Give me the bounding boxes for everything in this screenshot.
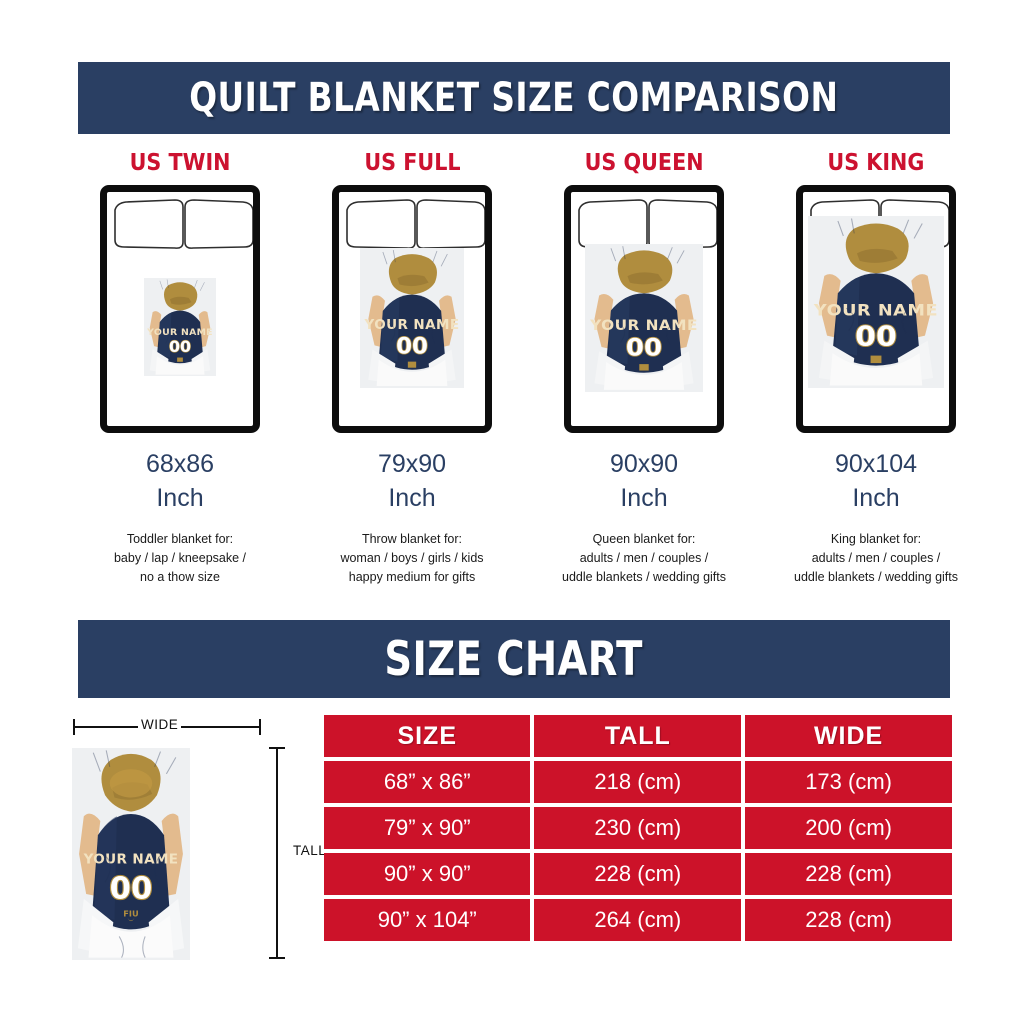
bed-frame-full: YOUR NAME 00	[332, 185, 492, 433]
size-column-twin: US TWIN YOUR NAME	[64, 150, 296, 588]
cell-wide: 200 (cm)	[745, 807, 952, 849]
cell-size: 79” x 90”	[324, 807, 530, 849]
size-dimension-twin: 68x86 Inch	[146, 448, 214, 516]
cell-wide: 173 (cm)	[745, 761, 952, 803]
desc-line-3: uddle blankets / wedding gifts	[562, 568, 726, 587]
column-header-tall: TALL	[534, 715, 741, 757]
size-dimension-king: 90x104 Inch	[835, 448, 917, 516]
dimension-unit-twin: Inch	[146, 482, 214, 516]
blanket-artwork-twin: YOUR NAME 00	[144, 278, 216, 376]
size-dimension-full: 79x90 Inch	[378, 448, 446, 516]
desc-line-3: happy medium for gifts	[340, 568, 483, 587]
size-description-full: Throw blanket for: woman / boys / girls …	[340, 530, 483, 588]
dimension-unit-queen: Inch	[610, 482, 678, 516]
bed-frame-twin: YOUR NAME 00	[100, 185, 260, 433]
table-header-row: SIZE TALL WIDE	[324, 715, 952, 757]
svg-text:YOUR NAME: YOUR NAME	[589, 317, 698, 333]
size-chart-banner: SIZE CHART	[78, 620, 950, 698]
cell-size: 90” x 90”	[324, 853, 530, 895]
wide-label: WIDE	[138, 717, 181, 732]
pillows-icon	[344, 197, 488, 253]
bed-frame-queen: YOUR NAME 00	[564, 185, 724, 433]
desc-line-2: adults / men / couples /	[794, 549, 958, 568]
svg-text:00: 00	[855, 320, 897, 352]
size-column-king: US KING YOUR NAME 00	[760, 150, 992, 588]
desc-line-1: Toddler blanket for:	[114, 530, 246, 549]
size-chart-area: WIDE TALL YOUR NAME 00 F	[0, 706, 1024, 966]
page-title: QUILT BLANKET SIZE COMPARISON	[189, 75, 838, 121]
size-chart-table: SIZE TALL WIDE 68” x 86” 218 (cm) 173 (c…	[320, 711, 956, 945]
dimension-value-twin: 68x86	[146, 448, 214, 482]
size-description-queen: Queen blanket for: adults / men / couple…	[562, 530, 726, 588]
dimension-value-king: 90x104	[835, 448, 917, 482]
cell-size: 90” x 104”	[324, 899, 530, 941]
svg-text:YOUR NAME: YOUR NAME	[363, 318, 459, 333]
tall-caliper-icon	[266, 746, 288, 960]
dimension-unit-king: Inch	[835, 482, 917, 516]
cell-wide: 228 (cm)	[745, 853, 952, 895]
cell-tall: 230 (cm)	[534, 807, 741, 849]
table-row: 68” x 86” 218 (cm) 173 (cm)	[324, 761, 952, 803]
cell-tall: 218 (cm)	[534, 761, 741, 803]
size-title-queen: US QUEEN	[585, 150, 704, 176]
desc-line-2: adults / men / couples /	[562, 549, 726, 568]
desc-line-1: Queen blanket for:	[562, 530, 726, 549]
desc-line-1: King blanket for:	[794, 530, 958, 549]
svg-text:00: 00	[396, 334, 428, 360]
size-column-queen: US QUEEN YOUR NAME 00	[528, 150, 760, 588]
dimension-unit-full: Inch	[378, 482, 446, 516]
table-row: 90” x 90” 228 (cm) 228 (cm)	[324, 853, 952, 895]
blanket-artwork-king: YOUR NAME 00	[808, 216, 944, 388]
dimension-value-queen: 90x90	[610, 448, 678, 482]
bed-frame-king: YOUR NAME 00	[796, 185, 956, 433]
size-chart-title: SIZE CHART	[385, 632, 643, 687]
cell-size: 68” x 86”	[324, 761, 530, 803]
size-dimension-queen: 90x90 Inch	[610, 448, 678, 516]
svg-text:YOUR NAME: YOUR NAME	[813, 300, 938, 319]
size-description-king: King blanket for: adults / men / couples…	[794, 530, 958, 588]
size-title-full: US FULL	[364, 150, 460, 176]
svg-text:YOUR NAME: YOUR NAME	[146, 327, 213, 338]
size-comparison-row: US TWIN YOUR NAME	[64, 150, 994, 588]
dimension-value-full: 79x90	[378, 448, 446, 482]
svg-text:00: 00	[626, 334, 662, 362]
cell-wide: 228 (cm)	[745, 899, 952, 941]
svg-text:00: 00	[169, 337, 191, 356]
desc-line-2: baby / lap / kneepsake /	[114, 549, 246, 568]
desc-line-2: woman / boys / girls / kids	[340, 549, 483, 568]
measurement-diagram: WIDE TALL YOUR NAME 00 F	[62, 706, 312, 964]
size-title-king: US KING	[827, 150, 924, 176]
size-title-twin: US TWIN	[130, 150, 231, 176]
blanket-artwork-measured: YOUR NAME 00 FIU	[72, 748, 190, 960]
top-banner: QUILT BLANKET SIZE COMPARISON	[78, 62, 950, 134]
svg-text:YOUR NAME: YOUR NAME	[83, 851, 179, 867]
table-row: 90” x 104” 264 (cm) 228 (cm)	[324, 899, 952, 941]
svg-text:FIU: FIU	[123, 908, 138, 918]
desc-line-3: no a thow size	[114, 568, 246, 587]
desc-line-3: uddle blankets / wedding gifts	[794, 568, 958, 587]
svg-text:00: 00	[110, 872, 153, 907]
blanket-artwork-queen: YOUR NAME 00	[585, 244, 703, 392]
column-header-size: SIZE	[324, 715, 530, 757]
pillows-icon	[112, 197, 256, 253]
size-description-twin: Toddler blanket for: baby / lap / kneeps…	[114, 530, 246, 588]
cell-tall: 228 (cm)	[534, 853, 741, 895]
cell-tall: 264 (cm)	[534, 899, 741, 941]
table-row: 79” x 90” 230 (cm) 200 (cm)	[324, 807, 952, 849]
column-header-wide: WIDE	[745, 715, 952, 757]
desc-line-1: Throw blanket for:	[340, 530, 483, 549]
blanket-artwork-full: YOUR NAME 00	[360, 248, 464, 388]
size-column-full: US FULL YOUR NAME 00	[296, 150, 528, 588]
